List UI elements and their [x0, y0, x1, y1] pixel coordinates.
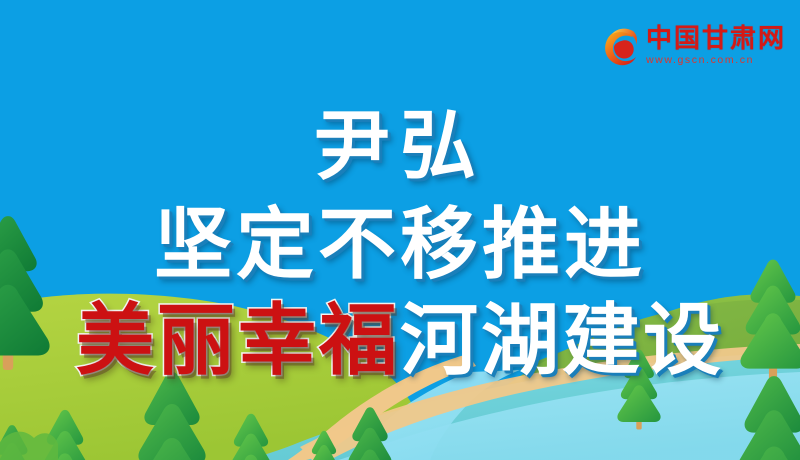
logo-site-url: www.gscn.com.cn: [646, 55, 754, 66]
news-banner: 尹弘 坚定不移推进 美丽幸福河湖建设: [0, 0, 800, 460]
site-logo[interactable]: 中国甘肃网 www.gscn.com.cn: [602, 22, 786, 70]
logo-site-name: 中国甘肃网: [646, 26, 786, 52]
gansu-net-logo-icon: [602, 25, 640, 67]
logo-text: 中国甘肃网 www.gscn.com.cn: [646, 26, 786, 66]
